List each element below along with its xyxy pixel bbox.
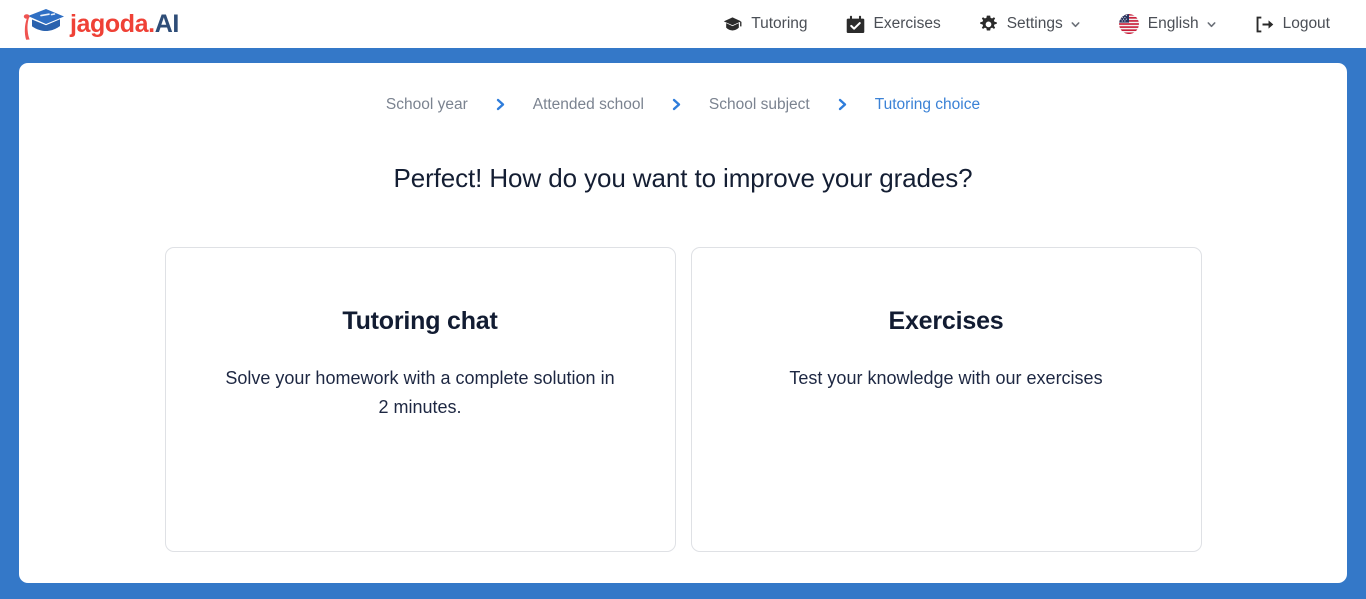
brand-name-part1: jagoda: [70, 10, 148, 38]
breadcrumb-item-school-subject[interactable]: School subject: [709, 97, 810, 113]
option-card-description: Test your knowledge with our exercises: [789, 364, 1102, 393]
chevron-right-icon: [494, 97, 507, 112]
top-navigation-bar: jagoda.AI Tutoring Exercises: [0, 0, 1366, 48]
chevron-right-icon: [836, 97, 849, 112]
breadcrumb-item-tutoring-choice[interactable]: Tutoring choice: [875, 97, 980, 113]
nav-item-exercises[interactable]: Exercises: [846, 15, 941, 34]
nav-item-language-label: English: [1148, 16, 1199, 32]
gear-icon: [979, 15, 998, 34]
us-flag-icon: [1119, 14, 1139, 34]
nav-item-exercises-label: Exercises: [874, 16, 941, 32]
page-title: Perfect! How do you want to improve your…: [393, 163, 972, 194]
page-background-frame: School year Attended school School subje…: [0, 48, 1366, 599]
tutoring-choice-options: Tutoring chat Solve your homework with a…: [165, 247, 1202, 552]
option-card-tutoring-chat[interactable]: Tutoring chat Solve your homework with a…: [165, 247, 676, 552]
option-card-title: Exercises: [889, 306, 1004, 336]
calendar-check-icon: [846, 15, 865, 34]
brand-name-part2: AI: [155, 10, 179, 38]
nav-items-group: Tutoring Exercises Settings: [723, 14, 1330, 34]
breadcrumb-item-attended-school[interactable]: Attended school: [533, 97, 644, 113]
brand-logo-link[interactable]: jagoda.AI: [22, 7, 179, 41]
graduation-cap-icon: [723, 15, 742, 34]
graduation-cap-logo-icon: [22, 7, 66, 41]
nav-item-settings-label: Settings: [1007, 16, 1063, 32]
nav-item-logout-label: Logout: [1283, 16, 1330, 32]
option-card-title: Tutoring chat: [342, 306, 497, 336]
nav-item-tutoring-label: Tutoring: [751, 16, 807, 32]
nav-item-language[interactable]: English: [1119, 14, 1217, 34]
chevron-right-icon: [670, 97, 683, 112]
nav-item-logout[interactable]: Logout: [1255, 15, 1330, 34]
chevron-down-icon: [1206, 19, 1217, 30]
option-card-exercises[interactable]: Exercises Test your knowledge with our e…: [691, 247, 1202, 552]
chevron-down-icon: [1070, 19, 1081, 30]
content-panel: School year Attended school School subje…: [19, 63, 1347, 583]
brand-name: jagoda.AI: [70, 12, 179, 37]
breadcrumb: School year Attended school School subje…: [386, 97, 980, 113]
nav-item-settings[interactable]: Settings: [979, 15, 1081, 34]
logout-icon: [1255, 15, 1274, 34]
option-card-description: Solve your homework with a complete solu…: [220, 364, 620, 422]
nav-item-tutoring[interactable]: Tutoring: [723, 15, 807, 34]
breadcrumb-item-school-year[interactable]: School year: [386, 97, 468, 113]
